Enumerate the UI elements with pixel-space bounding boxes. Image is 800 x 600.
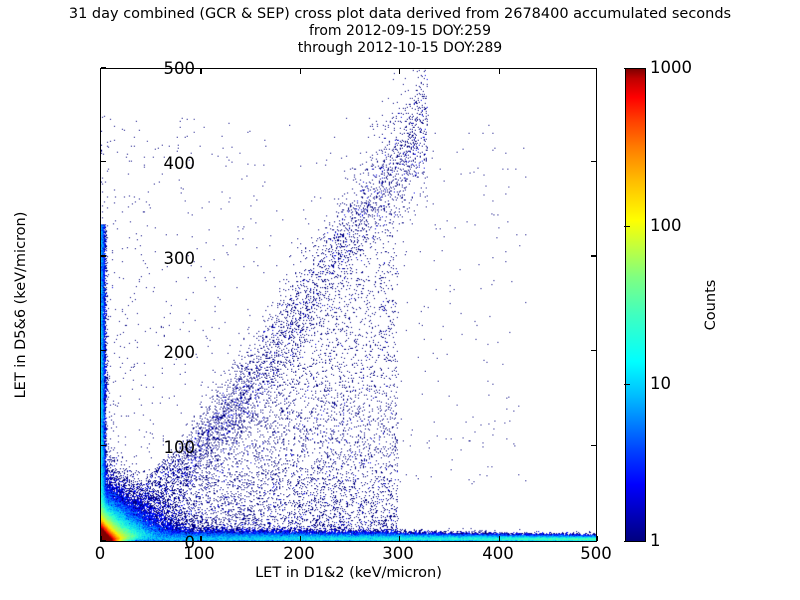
x-tick-label-0: 0 <box>60 546 140 563</box>
colorbar-tick-1000 <box>624 68 630 69</box>
colorbar-gradient <box>625 68 646 542</box>
figure-root: 31 day combined (GCR & SEP) cross plot d… <box>0 0 800 600</box>
x-tick-label-100: 100 <box>159 546 239 563</box>
title-line-1: 31 day combined (GCR & SEP) cross plot d… <box>0 6 800 23</box>
plot-axes <box>100 68 597 542</box>
colorbar-label-1000: 1000 <box>650 60 692 77</box>
y-tick-label-300: 300 <box>105 251 195 268</box>
x-tick-top-100 <box>200 69 201 74</box>
y-tick-right-100 <box>591 445 596 446</box>
colorbar <box>625 68 646 542</box>
y-tick-label-500: 500 <box>105 61 195 78</box>
x-tick-label-200: 200 <box>259 546 339 563</box>
colorbar-title: Counts <box>703 280 719 331</box>
x-tick-top-300 <box>399 69 400 74</box>
y-tick-right-400 <box>591 161 596 162</box>
colorbar-label-1: 1 <box>650 533 661 550</box>
x-tick-label-400: 400 <box>458 546 538 563</box>
x-tick-400 <box>499 536 500 541</box>
title-line-3: through 2012-10-15 DOY:289 <box>0 40 800 57</box>
scatter-heatmap-canvas <box>101 69 596 541</box>
y-tick-label-400: 400 <box>105 156 195 173</box>
y-tick-label-200: 200 <box>105 345 195 362</box>
x-tick-top-200 <box>300 69 301 74</box>
y-tick-right-300 <box>591 255 596 256</box>
colorbar-tick-1 <box>624 541 630 542</box>
colorbar-label-100: 100 <box>650 218 682 235</box>
y-tick-label-100: 100 <box>105 440 195 457</box>
y-tick-right-200 <box>591 350 596 351</box>
x-tick-100 <box>200 536 201 541</box>
x-axis-label: LET in D1&2 (keV/micron) <box>100 565 597 581</box>
x-tick-0 <box>101 536 102 541</box>
x-tick-300 <box>399 536 400 541</box>
figure-title: 31 day combined (GCR & SEP) cross plot d… <box>0 6 800 57</box>
x-tick-500 <box>597 536 598 541</box>
colorbar-label-10: 10 <box>650 376 671 393</box>
x-tick-top-400 <box>499 69 500 74</box>
colorbar-tick-100 <box>624 226 630 227</box>
x-tick-label-500: 500 <box>556 546 636 563</box>
title-line-2: from 2012-09-15 DOY:259 <box>0 23 800 40</box>
y-axis-label: LET in D5&6 (keV/micron) <box>13 212 29 399</box>
colorbar-tick-10 <box>624 384 630 385</box>
x-tick-200 <box>300 536 301 541</box>
x-tick-label-300: 300 <box>358 546 438 563</box>
